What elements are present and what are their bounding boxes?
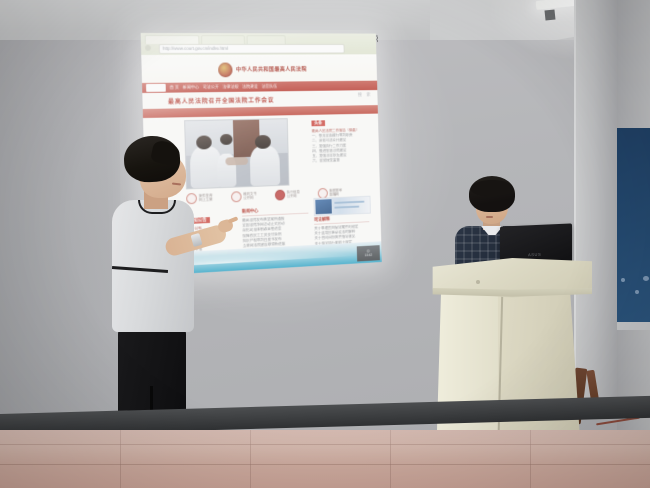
browser-chrome: http://www.court.gov.cn/index.html (141, 33, 377, 56)
interpretations-title: 司法解释 (314, 215, 369, 225)
headline-text[interactable]: 最高人民法院召开全国法院工作会议 (168, 95, 274, 105)
operator-mouth (486, 216, 493, 218)
address-bar[interactable]: http://www.court.gov.cn/index.html (159, 44, 345, 54)
promo-banner[interactable] (313, 196, 370, 217)
headline-column: 头条 最高人民法院工作报告（摘要） 一、依法全面履行审判职责 二、深化司法公开建… (311, 111, 368, 164)
browser-tab[interactable] (145, 35, 200, 44)
back-arrow-icon[interactable] (145, 45, 151, 51)
search-label[interactable]: 搜 索 (358, 92, 372, 98)
photo-person (249, 146, 280, 186)
headline-column-title: 头条 (311, 120, 324, 126)
address-bar-url: http://www.court.gov.cn/index.html (163, 45, 338, 53)
national-emblem-icon (218, 62, 233, 77)
browser-tab-strip[interactable] (145, 35, 362, 43)
system-tray[interactable]: 中 15:42 (357, 245, 380, 261)
judgment-docs-icon (231, 191, 242, 202)
clock: 15:42 (365, 253, 373, 257)
nav-item[interactable]: 新闻中心 (183, 84, 199, 90)
nav-item[interactable]: 法律法规 (223, 84, 239, 90)
floor-reflection (0, 430, 650, 488)
quick-link-sublabel: 直播网 (329, 192, 342, 196)
enforcement-info-icon (275, 189, 285, 200)
classroom-photo: ⌇ http://www.court.gov.cn/index.html 中华人… (0, 0, 650, 488)
quick-link-sublabel: 公开网 (287, 194, 300, 198)
blue-chalkboard (613, 128, 650, 328)
operator-hair-fringe (471, 180, 513, 196)
lectern-knob[interactable] (476, 280, 480, 284)
photo-person-head (255, 135, 270, 149)
site-title: 中华人民共和国最高人民法院 (236, 65, 307, 73)
nav-item[interactable]: 法院建设 (242, 84, 258, 90)
quick-link-sublabel: 公开网 (243, 196, 257, 200)
nav-item[interactable]: 首 页 (170, 85, 179, 91)
browser-tab[interactable] (247, 35, 286, 44)
report-item[interactable]: 六、自觉接受监督 (312, 157, 367, 164)
site-logo (146, 84, 166, 92)
nav-item[interactable]: 司法公开 (203, 84, 219, 90)
chalk-tray (613, 322, 650, 330)
quick-link[interactable]: 裁判文书 公开网 (231, 190, 257, 202)
light-mount-bracket (545, 10, 556, 21)
promo-thumbnail (315, 199, 332, 214)
photo-handshake (225, 157, 248, 166)
quick-link[interactable]: 执行信息 公开网 (275, 189, 300, 201)
nav-item[interactable]: 法官队伍 (261, 84, 277, 90)
laptop-brand-logo: ASUS (528, 252, 541, 258)
browser-tab[interactable] (201, 35, 245, 44)
